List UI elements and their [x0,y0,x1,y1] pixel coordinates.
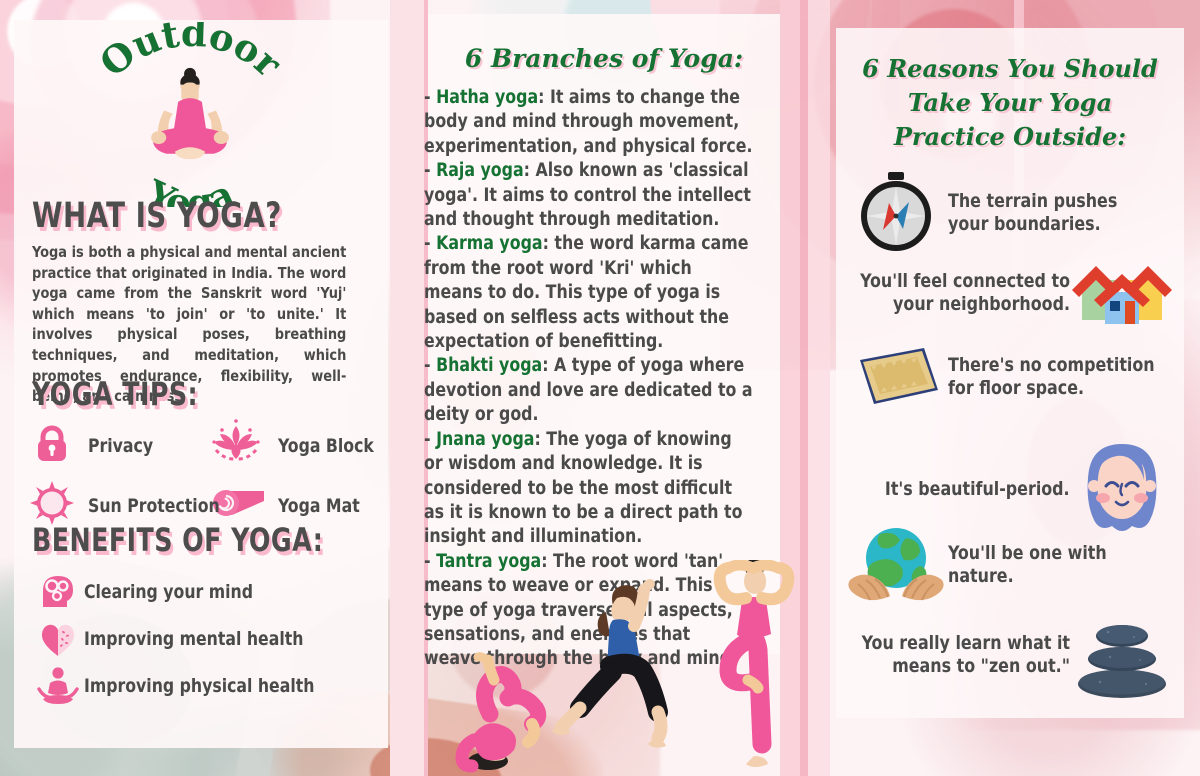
reason-text: You really learn what it means to "zen o… [860,632,1070,678]
what-is-yoga-heading: WHAT IS YOGA? [32,196,282,236]
brand-logo: Outdoor Outdoor Yoga Yoga [60,22,320,207]
benefit-item: Improving mental health [32,615,372,662]
branches-heading: 6 Branches of Yoga: [428,44,780,73]
reasons-heading-line1: 6 Reasons You Should [840,52,1180,86]
benefit-label-clearing-mind: Clearing your mind [84,581,253,603]
reasons-heading-line2: Take Your Yoga [840,86,1180,120]
benefits-heading: BENEFITS OF YOGA: [32,521,323,559]
yoga-tips-grid: Privacy Yoga Block [30,418,378,530]
branch-name: Karma yoga [436,233,543,254]
compass-icon [844,170,948,256]
reasons-heading-line3: Practice Outside: [840,120,1180,154]
tip-label-sun-protection: Sun Protection [88,495,197,517]
fold-line-right-outer [808,0,830,776]
lotus-pose-figure-icon [151,68,229,159]
reason-text: It's beautiful-period. [885,478,1070,501]
split-heart-icon [32,618,84,660]
branch-item: - Jnana yoga: The yoga of knowing or wis… [424,428,753,550]
branch-bullet: - [424,429,436,450]
branch-bullet: - [424,233,436,254]
reason-item: You'll be one with nature. [844,522,1174,608]
branch-item: - Raja yoga: Also known as 'classical yo… [424,159,753,232]
branch-bullet: - [424,160,436,181]
tip-label-yoga-block: Yoga Block [278,435,374,457]
rug-icon [844,344,948,410]
branch-bullet: - [424,551,436,572]
crescent-lunge-pose-figure [550,572,700,772]
lotus-icon [206,418,278,473]
branch-name: Jnana yoga [436,429,534,450]
reason-item: There's no competition for floor space. [844,344,1174,410]
yoga-pose-figures [440,560,800,776]
lock-icon [30,421,88,470]
tip-label-yoga-mat: Yoga Mat [278,495,374,517]
branch-item: - Hatha yoga: It aims to change the body… [424,86,753,159]
branch-item: - Karma yoga: the word karma came from t… [424,232,753,354]
logo-svg: Outdoor Outdoor Yoga Yoga [60,22,320,207]
reason-text: The terrain pushes your boundaries. [948,190,1158,236]
branch-name: Bhakti yoga [436,355,542,376]
reasons-heading: 6 Reasons You Should Take Your Yoga Prac… [840,52,1180,154]
branch-bullet: - [424,87,436,108]
benefit-item: Clearing your mind [32,568,372,615]
tree-pose-figure [698,560,808,770]
reason-text: You'll be one with nature. [948,542,1158,588]
tip-label-privacy: Privacy [88,435,197,457]
meditating-person-icon [32,665,84,707]
earth-in-hands-icon [844,522,948,608]
benefit-item: Improving physical health [32,662,372,709]
yoga-tips-heading: YOGA TIPS: [32,375,198,413]
reason-text: You'll feel connected to your neighborho… [860,270,1070,316]
branch-item: - Bhakti yoga: A type of yoga where devo… [424,354,753,427]
head-gears-icon [32,571,84,613]
yoga-brochure: Outdoor Outdoor Yoga Yoga [0,0,1200,776]
reason-item: The terrain pushes your boundaries. [844,170,1174,256]
benefits-list: Clearing your mind Improving mental heal… [32,568,372,709]
branch-name: Hatha yoga [436,87,538,108]
reason-item: You really learn what it means to "zen o… [844,612,1174,698]
reason-item: You'll feel connected to your neighborho… [844,258,1174,328]
zen-stones-icon [1070,612,1174,698]
reason-text: There's no competition for floor space. [948,354,1158,400]
benefit-label-physical-health: Improving physical health [84,675,314,697]
fold-line-left [390,0,424,776]
houses-icon [1070,258,1174,328]
branch-bullet: - [424,355,436,376]
branch-name: Raja yoga [436,160,524,181]
benefit-label-mental-health: Improving mental health [84,628,303,650]
